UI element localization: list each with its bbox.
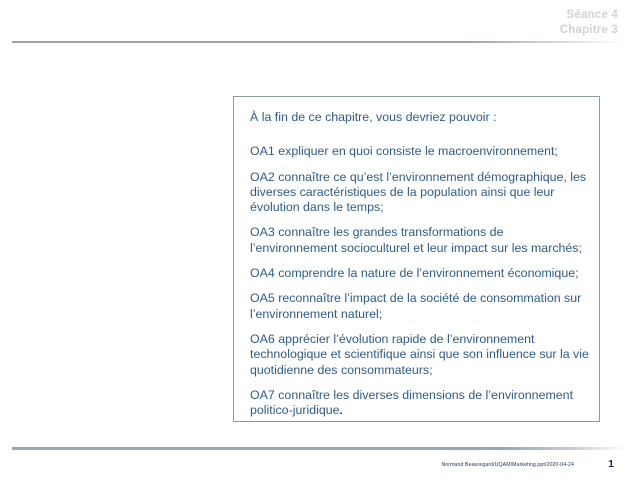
- slide-footer: Normand Beauregard/UQAM/Marketing.ppt/20…: [12, 462, 626, 476]
- page-number: 1: [608, 458, 614, 470]
- objective-item-oa3: OA3 connaître les grandes transformation…: [250, 225, 592, 256]
- objective-item-oa7: OA7 connaître les diverses dimensions de…: [250, 388, 592, 419]
- objective-item-oa6: OA6 apprécier l’évolution rapide de l’en…: [250, 332, 592, 378]
- footer-divider-rule: [12, 447, 626, 450]
- objectives-intro-text: À la fin de ce chapitre, vous devriez po…: [250, 110, 592, 125]
- header-session-label: Séance 4: [560, 8, 618, 23]
- slide-header: Séance 4 Chapitre 3: [560, 8, 618, 37]
- objectives-list: À la fin de ce chapitre, vous devriez po…: [250, 110, 592, 418]
- objective-item-oa4: OA4 comprendre la nature de l’environnem…: [250, 266, 592, 281]
- header-divider-rule: [12, 41, 626, 43]
- header-chapter-label: Chapitre 3: [560, 23, 618, 38]
- objective-item-oa7-terminator: .: [340, 403, 343, 417]
- footer-credit-text: Normand Beauregard/UQAM/Marketing.ppt/20…: [441, 462, 574, 468]
- objective-item-oa2: OA2 connaître ce qu’est l’environnement …: [250, 170, 592, 216]
- objective-item-oa1: OA1 expliquer en quoi consiste le macroe…: [250, 144, 592, 159]
- objective-item-oa5: OA5 reconnaître l’impact de la société d…: [250, 291, 592, 322]
- objective-item-oa7-text: OA7 connaître les diverses dimensions de…: [250, 388, 573, 417]
